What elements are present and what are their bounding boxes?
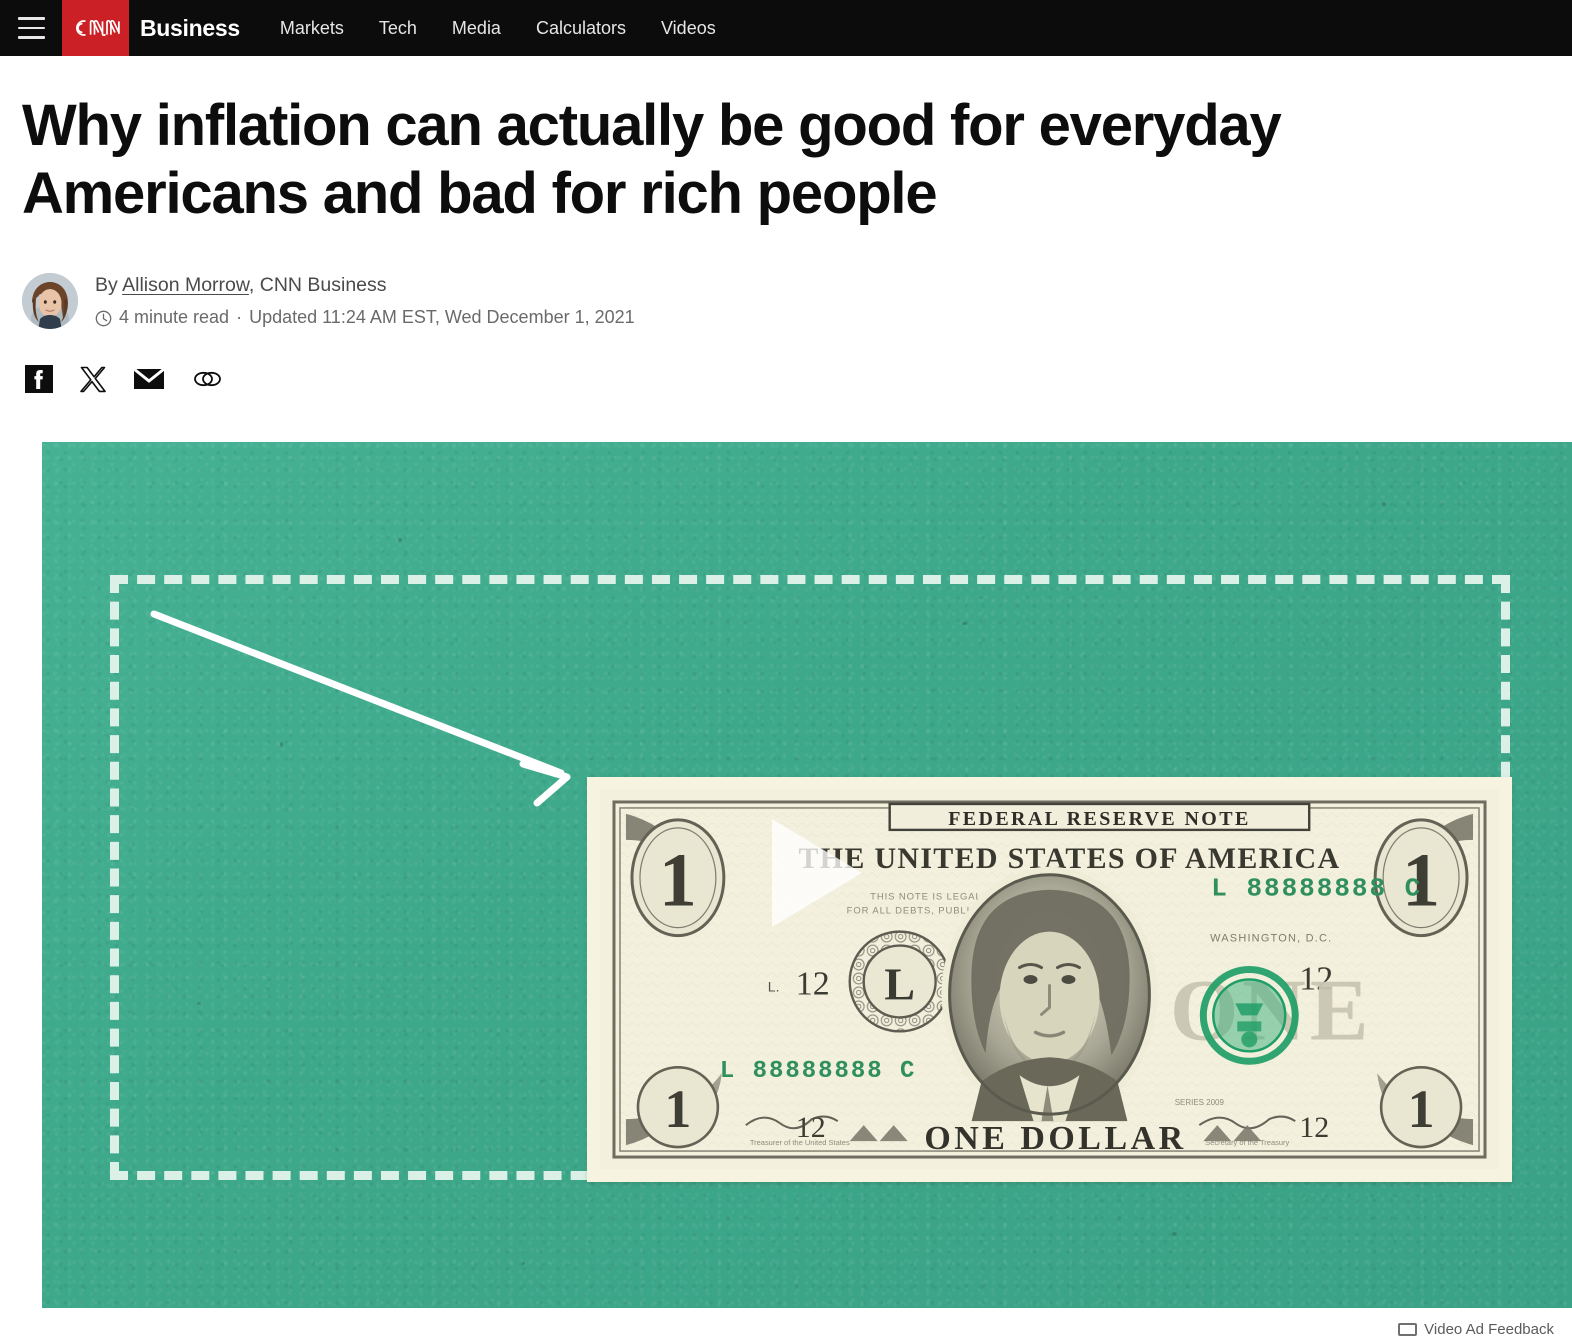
email-icon[interactable] bbox=[133, 362, 165, 396]
facebook-icon[interactable] bbox=[25, 362, 53, 396]
byline-meta-line: 4 minute read · Updated 11:24 AM EST, We… bbox=[95, 304, 635, 332]
x-twitter-icon[interactable] bbox=[79, 362, 107, 396]
clock-icon bbox=[95, 310, 112, 327]
svg-text:1: 1 bbox=[1408, 1079, 1435, 1139]
svg-text:L 88888888 C: L 88888888 C bbox=[720, 1058, 916, 1085]
video-caption: Video Ad Feedback bbox=[1398, 1321, 1554, 1336]
svg-text:L: L bbox=[884, 958, 915, 1009]
nav-link-media[interactable]: Media bbox=[452, 18, 501, 39]
page-title: Why inflation can actually be good for e… bbox=[22, 92, 1532, 229]
article-container: Why inflation can actually be good for e… bbox=[0, 92, 1572, 1308]
video-feedback-icon bbox=[1398, 1323, 1417, 1336]
byline-text: By Allison Morrow, CNN Business 4 minute… bbox=[95, 271, 635, 332]
byline-outlet: , CNN Business bbox=[249, 274, 387, 296]
read-time: 4 minute read bbox=[119, 304, 229, 332]
svg-text:WASHINGTON, D.C.: WASHINGTON, D.C. bbox=[1210, 933, 1332, 945]
dollar-bill-face: 1 1 1 1 bbox=[600, 790, 1499, 1169]
author-link[interactable]: Allison Morrow bbox=[122, 274, 249, 296]
brand-name[interactable]: Business bbox=[140, 15, 240, 42]
link-icon[interactable] bbox=[191, 362, 223, 396]
texture-speck bbox=[1382, 502, 1386, 506]
share-buttons bbox=[22, 362, 1550, 396]
cnn-logo[interactable] bbox=[62, 0, 129, 56]
svg-text:12: 12 bbox=[1299, 1111, 1329, 1144]
svg-text:L 88888888 C: L 88888888 C bbox=[1211, 874, 1422, 904]
top-navigation-bar: Business Markets Tech Media Calculators … bbox=[0, 0, 1572, 56]
article-video-player[interactable]: 1 1 1 1 bbox=[42, 442, 1572, 1308]
nav-links: Markets Tech Media Calculators Videos bbox=[280, 18, 716, 39]
avatar bbox=[22, 273, 78, 329]
byline: By Allison Morrow, CNN Business 4 minute… bbox=[22, 271, 1550, 332]
video-caption-label: Video Ad Feedback bbox=[1424, 1321, 1554, 1336]
updated-timestamp: Updated 11:24 AM EST, Wed December 1, 20… bbox=[249, 304, 635, 332]
texture-speck bbox=[1172, 1232, 1177, 1236]
svg-text:FEDERAL RESERVE NOTE: FEDERAL RESERVE NOTE bbox=[948, 808, 1250, 830]
dollar-bill-illustration: 1 1 1 1 bbox=[587, 777, 1512, 1182]
svg-text:L.: L. bbox=[768, 978, 780, 994]
nav-link-calculators[interactable]: Calculators bbox=[536, 18, 626, 39]
byline-prefix: By bbox=[95, 274, 122, 296]
hamburger-line bbox=[18, 36, 45, 39]
nav-link-tech[interactable]: Tech bbox=[379, 18, 417, 39]
texture-speck bbox=[398, 538, 402, 542]
nav-link-videos[interactable]: Videos bbox=[661, 18, 716, 39]
svg-text:1: 1 bbox=[664, 1079, 691, 1139]
svg-text:Treasurer of the United States: Treasurer of the United States bbox=[750, 1138, 850, 1147]
hamburger-line bbox=[18, 27, 45, 30]
svg-text:1: 1 bbox=[659, 839, 697, 923]
byline-author-line: By Allison Morrow, CNN Business bbox=[95, 271, 635, 300]
video-caption-bar: Video Ad Feedback bbox=[0, 1314, 1572, 1336]
nav-link-markets[interactable]: Markets bbox=[280, 18, 344, 39]
meta-separator: · bbox=[236, 304, 242, 332]
texture-speck bbox=[522, 1262, 525, 1265]
svg-text:SERIES 2009: SERIES 2009 bbox=[1175, 1098, 1225, 1107]
svg-text:12: 12 bbox=[796, 965, 830, 1002]
svg-text:ONE DOLLAR: ONE DOLLAR bbox=[924, 1120, 1186, 1157]
hamburger-line bbox=[18, 17, 45, 20]
hamburger-menu-icon[interactable] bbox=[0, 0, 62, 56]
